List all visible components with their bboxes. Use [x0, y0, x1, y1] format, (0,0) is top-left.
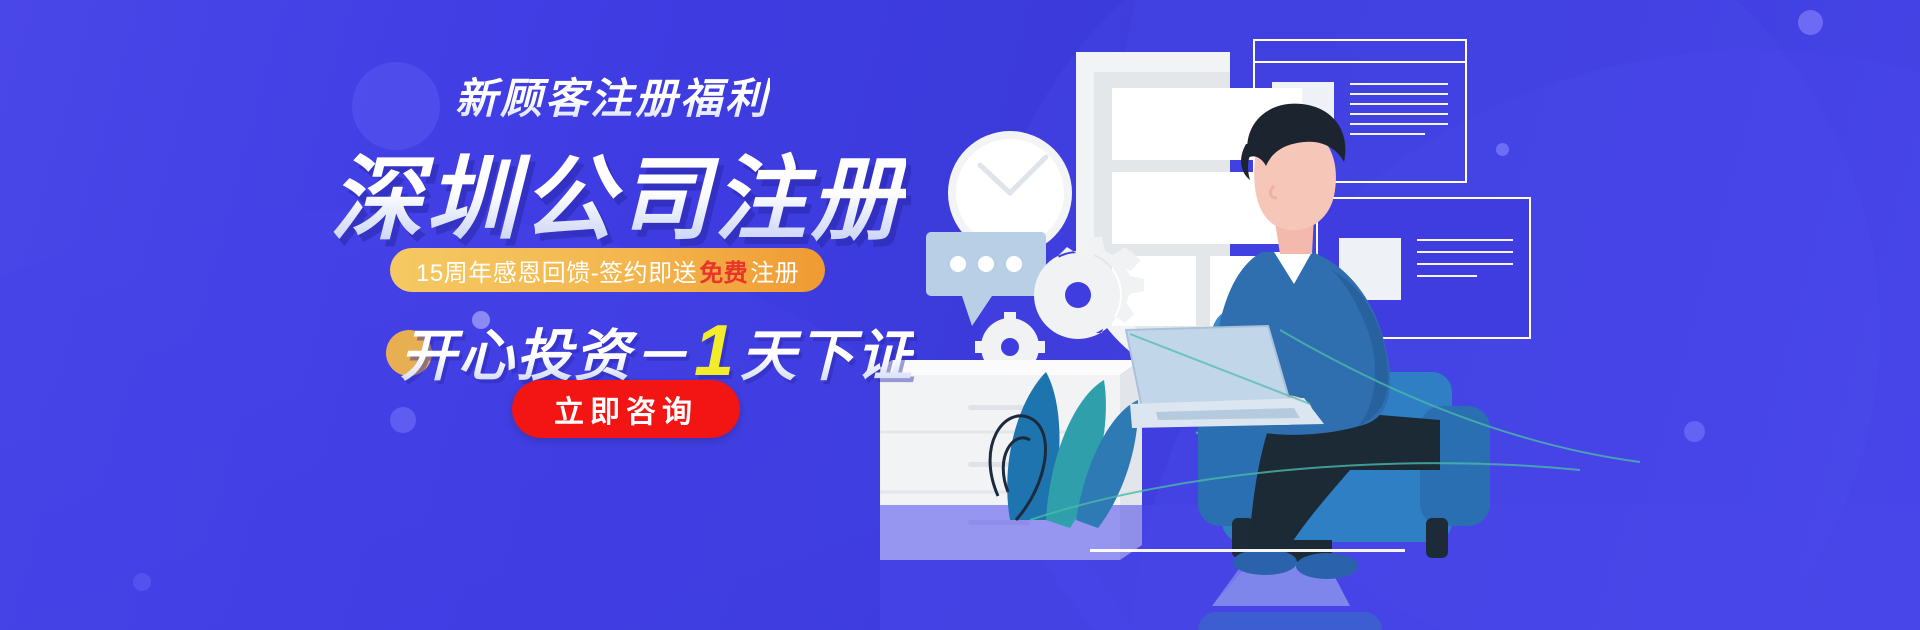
hero-illustration: [880, 0, 1920, 630]
promo-pill: 15周年感恩回馈-签约即送 免费 注册: [390, 248, 825, 292]
subline-suffix: 天下证: [740, 311, 914, 392]
promo-banner: 新顾客注册福利 深圳公司注册 15周年感恩回馈-签约即送 免费 注册 开心投资－…: [0, 0, 1920, 630]
banner-copy: 新顾客注册福利 深圳公司注册 15周年感恩回馈-签约即送 免费 注册 开心投资－…: [0, 0, 1000, 630]
banner-eyebrow: 新顾客注册福利: [455, 65, 770, 126]
consult-now-button[interactable]: 立即咨询: [512, 380, 740, 438]
promo-pill-prefix: 15周年感恩回馈-签约即送: [416, 253, 697, 288]
floor-line: [1090, 549, 1405, 552]
promo-pill-highlight: 免费: [697, 253, 750, 288]
banner-headline: 深圳公司注册: [330, 125, 906, 258]
promo-pill-suffix: 注册: [750, 253, 799, 288]
